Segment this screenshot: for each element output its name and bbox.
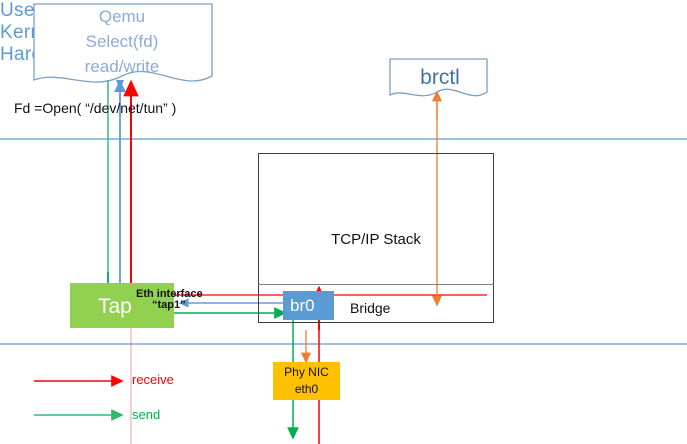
phy-nic-line-2: eth0	[273, 381, 340, 398]
fd-open-annotation: Fd =Open( “/dev/net/tun” )	[14, 100, 176, 116]
phy-nic-line-1: Phy NIC	[273, 364, 340, 381]
qemu-line-3: read/write	[32, 54, 212, 79]
bridge-label: Bridge	[350, 300, 390, 316]
kernel-stack-divider	[258, 284, 494, 285]
legend-label-send: send	[132, 407, 160, 422]
tcpip-stack-label: TCP/IP Stack	[258, 231, 494, 248]
legend-label-receive: receive	[132, 372, 174, 387]
qemu-node-label: Qemu Select(fd) read/write	[32, 4, 212, 79]
qemu-line-1: Qemu	[32, 4, 212, 29]
brctl-node-label: brctl	[392, 66, 488, 90]
br0-label: br0	[290, 296, 315, 316]
diagram-canvas: Qemu Select(fd) read/write brctl Fd =Ope…	[0, 0, 687, 444]
tap-device-label: Tap	[98, 295, 132, 319]
qemu-line-2: Select(fd)	[32, 29, 212, 54]
tap1-name-annotation: “tap1”	[152, 299, 186, 311]
phy-nic-label: Phy NIC eth0	[273, 364, 340, 398]
